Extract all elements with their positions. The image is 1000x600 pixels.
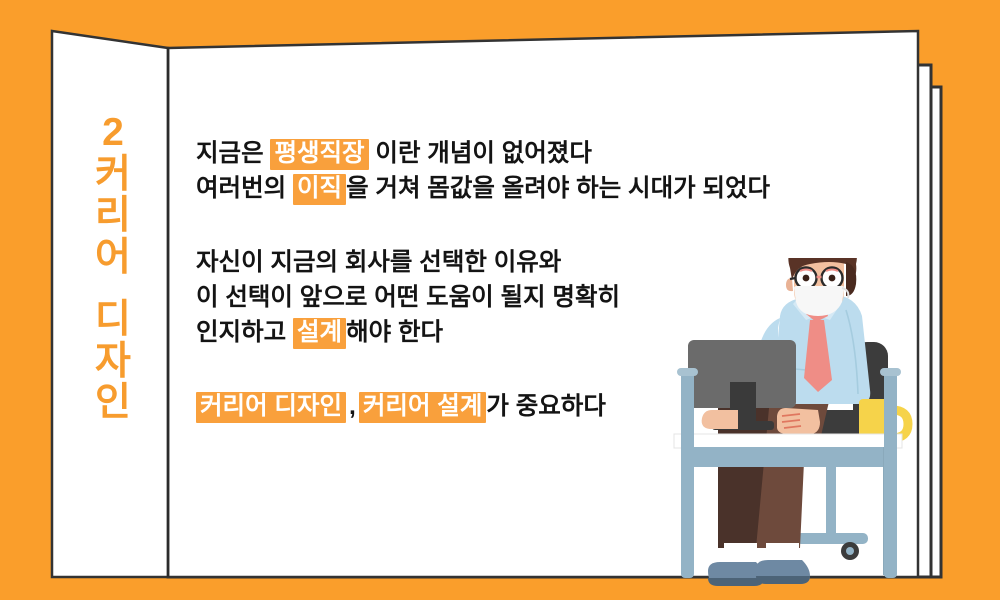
shoe-left-sole	[708, 578, 764, 586]
post-right	[884, 368, 897, 578]
shoe-right-sole	[756, 576, 810, 584]
highlight-seolgye: 설계	[293, 318, 346, 349]
chapter-title-vertical: 2 커 리 어 디 자 인	[78, 112, 148, 424]
ear	[786, 278, 793, 291]
title-char-0: 커	[95, 154, 131, 196]
post-right-cap	[880, 368, 901, 376]
highlight-career-planning: 커리어 설계	[359, 392, 487, 423]
post-left	[681, 368, 694, 578]
line6-post: 가 중요하다	[486, 393, 606, 420]
text-line-2: 여러번의 이직을 거쳐 몸값을 올려야 하는 시대가 되었다	[196, 171, 696, 206]
text-line-4: 이 선택이 앞으로 어떤 도움이 될지 명확히	[196, 280, 696, 315]
office-worker-svg	[660, 258, 930, 600]
line5-pre: 인지하고	[196, 319, 293, 346]
highlight-pyeongsaengjikjang: 평생직장	[270, 139, 368, 170]
line1-post: 이란 개념이 없어졌다	[369, 140, 592, 167]
title-char-5: 자	[95, 341, 131, 383]
text-block-1: 지금은 평생직장 이란 개념이 없어졌다 여러번의 이직을 거쳐 몸값을 올려야…	[196, 136, 696, 206]
title-char-4: 디	[95, 299, 131, 341]
post-left-cap	[677, 368, 698, 376]
line1-pre: 지금은	[196, 140, 270, 167]
line5-post: 해야 한다	[346, 319, 443, 346]
chair-caster-inner	[846, 547, 854, 555]
text-block-3: 커리어 디자인,커리어 설계가 중요하다	[196, 389, 696, 424]
desk-apron	[682, 447, 894, 467]
text-line-1: 지금은 평생직장 이란 개념이 없어졌다	[196, 136, 696, 171]
title-char-6: 인	[95, 382, 131, 424]
text-line-5: 인지하고 설계해야 한다	[196, 315, 696, 350]
slide-body-text: 지금은 평생직장 이란 개념이 없어졌다 여러번의 이직을 거쳐 몸값을 올려야…	[196, 136, 696, 424]
office-worker-illustration	[660, 258, 930, 600]
eye-left	[803, 275, 810, 282]
eye-right	[829, 275, 836, 282]
highlight-ijik: 이직	[293, 174, 346, 205]
chapter-number: 2	[102, 112, 124, 154]
title-char-2: 어	[95, 237, 131, 279]
text-line-3: 자신이 지금의 회사를 선택한 이유와	[196, 245, 696, 280]
highlight-career-design: 커리어 디자인	[196, 392, 346, 423]
line2-post: 을 거쳐 몸값을 올려야 하는 시대가 되었다	[346, 175, 770, 202]
title-char-1: 리	[95, 195, 131, 237]
hand-left	[702, 410, 738, 429]
text-block-2: 자신이 지금의 회사를 선택한 이유와 이 선택이 앞으로 어떤 도움이 될지 …	[196, 245, 696, 350]
comma-separator: ,	[346, 393, 359, 420]
glasses-temple	[790, 278, 796, 279]
text-line-6: 커리어 디자인,커리어 설계가 중요하다	[196, 389, 696, 424]
line2-pre: 여러번의	[196, 175, 293, 202]
desk-top-surface	[674, 434, 902, 448]
chair-base	[796, 533, 868, 544]
